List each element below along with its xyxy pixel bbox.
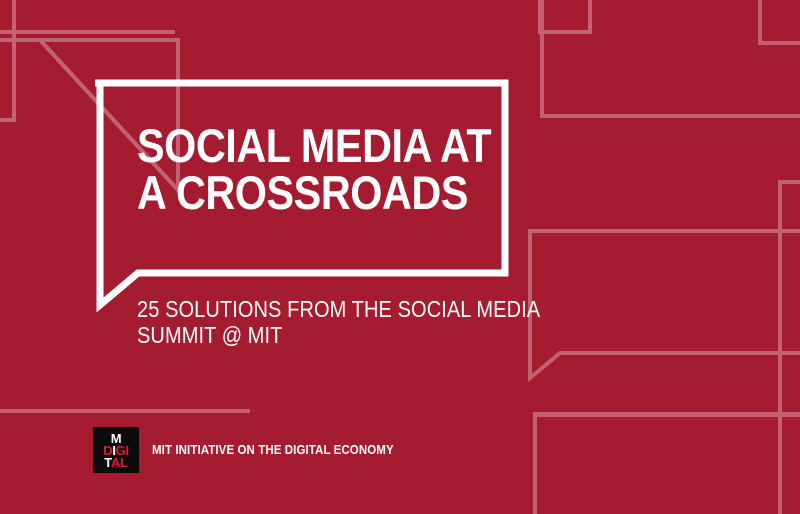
- logo-letter-t: T: [104, 455, 111, 470]
- title-line-1: SOCIAL MEDIA AT: [137, 122, 445, 169]
- bg-rect-lower-right: [780, 182, 800, 514]
- page-title: SOCIAL MEDIA AT A CROSSROADS: [137, 122, 487, 216]
- logo-letters-al: AL: [111, 455, 128, 470]
- cover-page: SOCIAL MEDIA AT A CROSSROADS 25 SOLUTION…: [0, 0, 800, 514]
- logo-row-tal: TAL: [93, 456, 139, 469]
- page-subtitle: 25 SOLUTIONS FROM THE SOCIAL MEDIA SUMMI…: [137, 296, 557, 348]
- bg-bubble-right: [530, 231, 800, 378]
- footer-branding: M DIGI TAL MIT INITIATIVE ON THE DIGITAL…: [93, 427, 415, 473]
- bg-square-top: [540, 0, 590, 32]
- bg-frame-topleft: [0, 0, 14, 120]
- title-line-2: A CROSSROADS: [137, 169, 445, 216]
- subtitle-line-1: 25 SOLUTIONS FROM THE SOCIAL MEDIA: [137, 296, 502, 322]
- bg-rect-topright: [760, 0, 800, 43]
- bg-rect-upper-right: [542, 0, 800, 116]
- bg-rect-bottom: [535, 414, 800, 514]
- mit-ide-logo-icon: M DIGI TAL: [93, 427, 139, 473]
- subtitle-line-2: SUMMIT @ MIT: [137, 322, 502, 348]
- organization-name: MIT INITIATIVE ON THE DIGITAL ECONOMY: [152, 444, 394, 457]
